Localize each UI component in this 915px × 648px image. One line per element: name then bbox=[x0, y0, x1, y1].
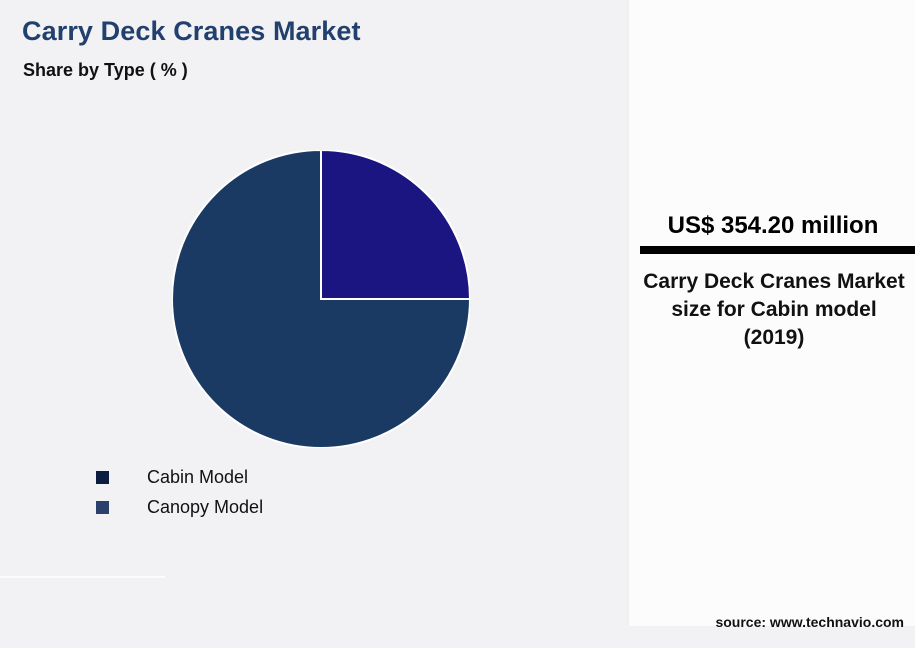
page-title: Carry Deck Cranes Market bbox=[22, 16, 361, 47]
kpi-underline bbox=[640, 246, 915, 254]
pie-chart bbox=[172, 150, 470, 448]
callout-panel: US$ 354.20 million Carry Deck Cranes Mar… bbox=[627, 0, 915, 626]
kpi-caption: Carry Deck Cranes Market size for Cabin … bbox=[643, 268, 905, 352]
pie-slice-canopy-model[interactable] bbox=[321, 150, 470, 299]
chart-canvas: Carry Deck Cranes Market Share by Type (… bbox=[0, 0, 915, 648]
legend-swatch-icon bbox=[96, 501, 109, 514]
legend-item-cabin-model[interactable]: Cabin Model bbox=[96, 462, 476, 492]
legend-item-canopy-model[interactable]: Canopy Model bbox=[96, 492, 476, 522]
pie-chart-svg bbox=[172, 150, 470, 448]
legend-item-label: Canopy Model bbox=[147, 497, 263, 518]
source-note: source: www.technavio.com bbox=[627, 614, 904, 630]
chart-panel: Carry Deck Cranes Market Share by Type (… bbox=[0, 0, 625, 648]
kpi-value: US$ 354.20 million bbox=[629, 212, 915, 240]
legend-item-label: Cabin Model bbox=[147, 467, 248, 488]
legend-swatch-icon bbox=[96, 471, 109, 484]
divider-line bbox=[0, 576, 165, 578]
legend: Cabin Model Canopy Model bbox=[96, 462, 476, 522]
chart-subtitle: Share by Type ( % ) bbox=[23, 60, 188, 81]
